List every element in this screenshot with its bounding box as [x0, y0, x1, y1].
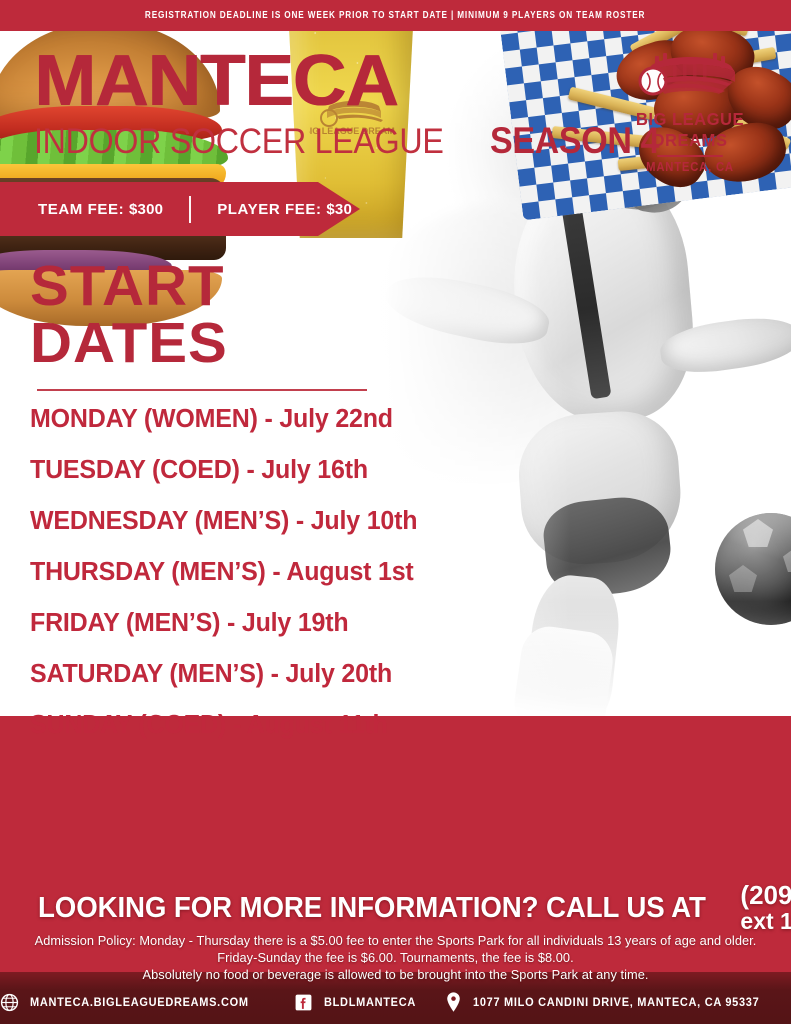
date-day: SUNDAY (COED) — [30, 711, 226, 739]
phone-block[interactable]: (209) 824-2400 ext 106, 112, or 105 — [740, 882, 791, 934]
date-value: July 16th — [261, 456, 368, 484]
date-value: August 11th — [247, 711, 388, 739]
subtitle: INDOOR SOCCER LEAGUE — [34, 122, 444, 162]
date-day: MONDAY (WOMEN) — [30, 405, 258, 433]
date-value: July 22nd — [279, 405, 393, 433]
date-value: August 1st — [286, 558, 413, 586]
footer-address: 1077 MILO CANDINI DRIVE, MANTECA, CA 953… — [445, 992, 791, 1012]
player-fee-value: $30 — [326, 201, 352, 218]
date-dash: - — [220, 609, 242, 637]
fee-inner: TEAM FEE: $300 PLAYER FEE: $30 — [0, 196, 352, 223]
date-row: WEDNESDAY (MEN’S) - July 10th — [30, 507, 422, 536]
date-dash: - — [264, 660, 286, 688]
footer-facebook[interactable]: BLDLMANTECA — [294, 993, 426, 1012]
start-dates-divider — [37, 389, 367, 391]
team-fee-label: TEAM FEE: — [38, 201, 124, 218]
footer-facebook-text[interactable]: BLDLMANTECA — [324, 995, 416, 1009]
date-day: THURSDAY (MEN’S) — [30, 558, 266, 586]
facebook-icon — [294, 993, 313, 1012]
date-dash: - — [240, 456, 262, 484]
date-row: SUNDAY (COED) - August 11th — [30, 711, 422, 740]
cta-text: LOOKING FOR MORE INFORMATION? CALL US AT — [38, 892, 706, 925]
registration-banner: REGISTRATION DEADLINE IS ONE WEEK PRIOR … — [0, 0, 791, 31]
policy-line-2: Friday-Sunday the fee is $6.00. Tourname… — [0, 949, 791, 966]
date-day: TUESDAY (COED) — [30, 456, 240, 484]
footer-website-text[interactable]: MANTECA.BIGLEAGUEDREAMS.COM — [30, 995, 249, 1009]
cta-row: LOOKING FOR MORE INFORMATION? CALL US AT… — [38, 882, 791, 934]
date-day: WEDNESDAY (MEN’S) — [30, 507, 289, 535]
date-row: SATURDAY (MEN’S) - July 20th — [30, 660, 422, 689]
globe-icon — [0, 993, 19, 1012]
registration-banner-text: REGISTRATION DEADLINE IS ONE WEEK PRIOR … — [145, 10, 645, 21]
start-dates-section: START DATES MONDAY (WOMEN) - July 22nd T… — [30, 258, 430, 762]
date-dash: - — [289, 507, 311, 535]
season-label: SEASON 4 — [490, 120, 659, 162]
start-dates-heading: START DATES — [30, 258, 438, 372]
date-dash: - — [258, 405, 280, 433]
team-fee-value: $300 — [129, 201, 163, 218]
date-dash: - — [226, 711, 247, 739]
player-fee-label: PLAYER FEE: — [217, 201, 321, 218]
fee-separator — [189, 196, 191, 223]
date-row: FRIDAY (MEN’S) - July 19th — [30, 609, 422, 638]
subtitle-row: INDOOR SOCCER LEAGUE SEASON 4 — [34, 120, 674, 162]
policy-line-1: Admission Policy: Monday - Thursday ther… — [0, 932, 791, 949]
footer-website[interactable]: MANTECA.BIGLEAGUEDREAMS.COM — [0, 993, 273, 1012]
phone-number[interactable]: (209) 824-2400 — [740, 882, 791, 909]
date-row: MONDAY (WOMEN) - July 22nd — [30, 405, 422, 434]
page-title: MANTECA — [34, 48, 693, 114]
footer-address-text: 1077 MILO CANDINI DRIVE, MANTECA, CA 953… — [473, 995, 759, 1009]
date-day: FRIDAY (MEN’S) — [30, 609, 220, 637]
date-day: SATURDAY (MEN’S) — [30, 660, 264, 688]
date-value: July 19th — [242, 609, 349, 637]
fee-bar: TEAM FEE: $300 PLAYER FEE: $30 — [0, 182, 360, 236]
player-fee: PLAYER FEE: $30 — [217, 201, 352, 218]
admission-policy: Admission Policy: Monday - Thursday ther… — [0, 932, 791, 983]
flyer-page: REGISTRATION DEADLINE IS ONE WEEK PRIOR … — [0, 0, 791, 1024]
date-value: July 20th — [285, 660, 392, 688]
location-pin-icon — [445, 992, 462, 1012]
date-dash: - — [266, 558, 287, 586]
team-fee: TEAM FEE: $300 — [38, 201, 163, 218]
date-value: July 10th — [311, 507, 418, 535]
phone-extensions: ext 106, 112, or 105 — [740, 909, 791, 935]
date-row: THURSDAY (MEN’S) - August 1st — [30, 558, 422, 587]
footer-bar: MANTECA.BIGLEAGUEDREAMS.COM BLDLMANTECA … — [0, 980, 791, 1024]
date-row: TUESDAY (COED) - July 16th — [30, 456, 422, 485]
title-block: MANTECA INDOOR SOCCER LEAGUE SEASON 4 — [34, 48, 674, 162]
